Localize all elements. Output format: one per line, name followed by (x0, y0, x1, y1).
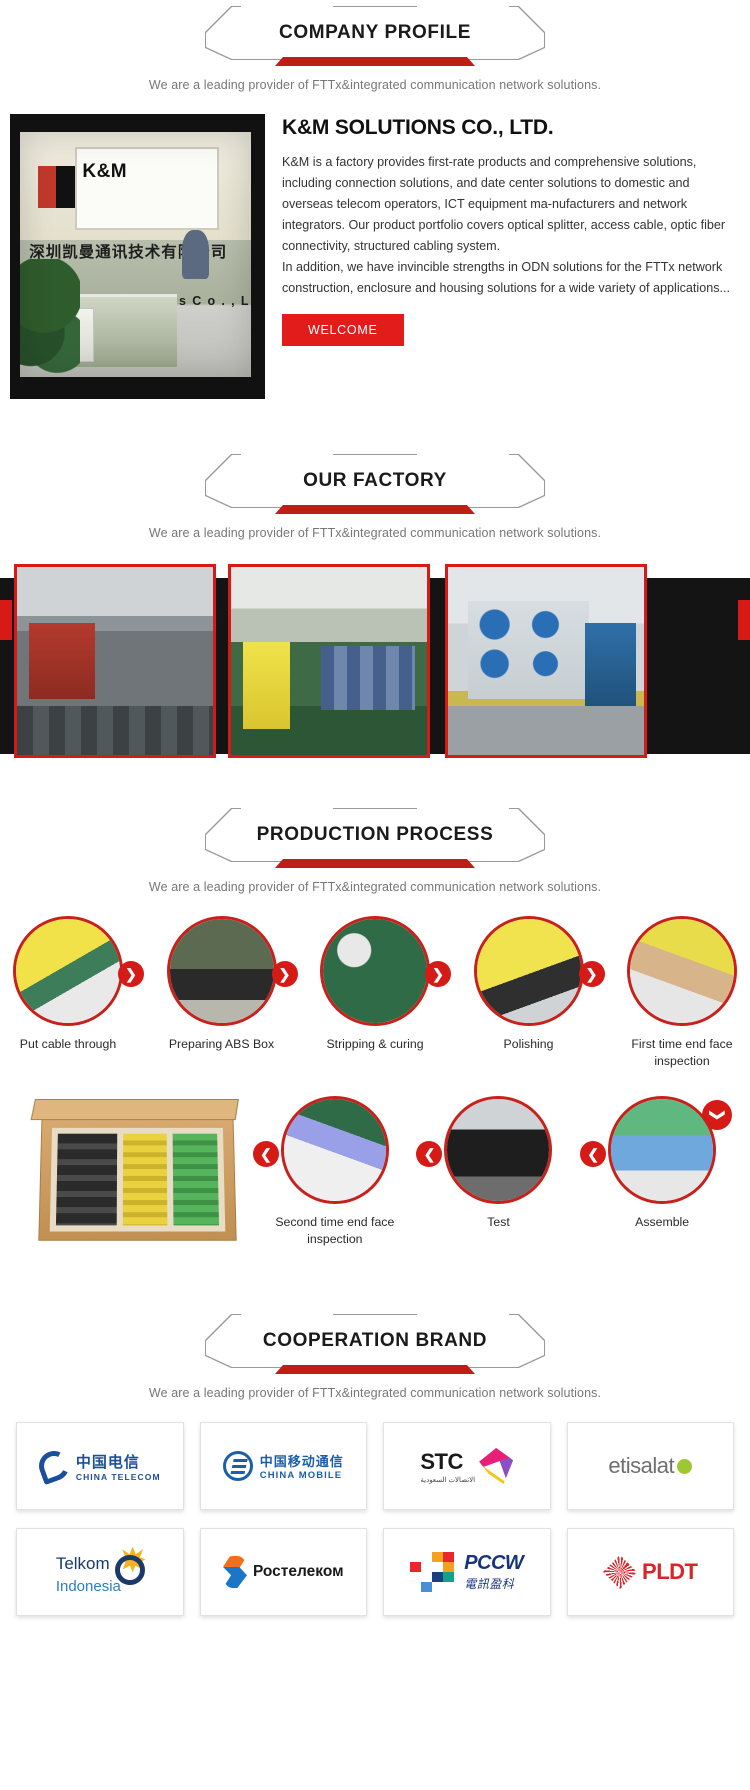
section-header-our-factory: OUR FACTORY (0, 448, 750, 514)
brand-telkom-indonesia[interactable]: Telkom Indonesia (16, 1528, 184, 1616)
company-profile-block: K&M 深圳凯曼通讯技术有限公司 K & M S o l u t i o n s… (0, 114, 750, 404)
brand-china-mobile[interactable]: 中国移动通信 CHINA MOBILE (200, 1422, 368, 1510)
banner-red-bar (275, 57, 475, 66)
pccw-cn: 電訊盈科 (464, 1575, 523, 1592)
process-label-7: Test (430, 1214, 566, 1231)
banner-gap-left (241, 452, 333, 457)
rostelecom-logo-icon (223, 1556, 247, 1588)
chevron-right-icon: ❯ (579, 961, 605, 987)
brand-pldt[interactable]: PLDT (567, 1528, 735, 1616)
company-profile-page: COMPANY PROFILE We are a leading provide… (0, 0, 750, 1642)
company-paragraph-1: K&M is a factory provides first-rate pro… (282, 152, 740, 257)
section-subtitle-company-profile: We are a leading provider of FTTx&integr… (0, 66, 750, 96)
banner-cooperation-brand: COOPERATION BRAND (205, 1314, 545, 1368)
banner-production-process: PRODUCTION PROCESS (205, 808, 545, 862)
factory-tab-right (738, 600, 750, 640)
chevron-left-icon: ❮ (416, 1141, 442, 1167)
banner-gap-left (241, 4, 333, 9)
stc-arabic: الاتصالات السعودية (420, 1476, 475, 1484)
telkom-indonesia-word: Indonesia (56, 1578, 121, 1595)
banner-red-bar (275, 859, 475, 868)
pldt-diamond-icon (603, 1555, 637, 1589)
company-paragraph-2: In addition, we have invincible strength… (282, 257, 740, 299)
section-header-company-profile: COMPANY PROFILE (0, 0, 750, 66)
process-image-4 (474, 916, 584, 1026)
office-vignette (20, 132, 251, 377)
brand-china-telecom[interactable]: 中国电信 CHINA TELECOM (16, 1422, 184, 1510)
chevron-right-icon: ❯ (272, 961, 298, 987)
company-text-column: K&M SOLUTIONS CO., LTD. K&M is a factory… (282, 116, 740, 346)
china-mobile-logo-icon (223, 1451, 253, 1481)
factory-photo-3[interactable] (445, 564, 647, 758)
banner-gap-right (417, 4, 509, 9)
packing-carton-photo[interactable] (38, 1111, 236, 1240)
section-header-cooperation-brand: COOPERATION BRAND (0, 1308, 750, 1374)
chevron-left-icon: ❮ (580, 1141, 606, 1167)
factory-photo-2[interactable] (228, 564, 430, 758)
banner-gap-right (417, 806, 509, 811)
brand-stc[interactable]: STC الاتصالات السعودية (383, 1422, 551, 1510)
welcome-button[interactable]: WELCOME (282, 314, 404, 346)
process-row-1: Put cable through ❯ Preparing ABS Box ❯ … (0, 916, 750, 1070)
process-label-5: First time end face inspection (620, 1036, 744, 1070)
chevron-left-icon: ❮ (253, 1141, 279, 1167)
process-image-5 (627, 916, 737, 1026)
china-mobile-en: CHINA MOBILE (260, 1470, 344, 1481)
brand-etisalat[interactable]: etisalat (567, 1422, 735, 1510)
process-row-2: ❯ ❮ Second time end face inspection ❮ Te… (0, 1096, 750, 1286)
process-image-1 (13, 916, 123, 1026)
process-step-6[interactable]: ❮ Second time end face inspection (267, 1096, 403, 1248)
process-label-1: Put cable through (6, 1036, 130, 1053)
process-step-8[interactable]: ❮ Assemble (594, 1096, 730, 1248)
process-label-8: Assemble (594, 1214, 730, 1231)
process-label-2: Preparing ABS Box (160, 1036, 284, 1053)
china-telecom-logo-icon (39, 1451, 69, 1481)
process-step-7[interactable]: ❮ Test (430, 1096, 566, 1248)
stc-en: STC (420, 1449, 475, 1475)
telkom-word: Telkom (56, 1554, 110, 1574)
process-image-2 (167, 916, 277, 1026)
process-step-3[interactable]: Stripping & curing ❯ (313, 916, 437, 1070)
china-telecom-cn: 中国电信 (76, 1451, 161, 1472)
process-step-4[interactable]: Polishing ❯ (467, 916, 591, 1070)
carton-flap (31, 1099, 240, 1120)
banner-red-bar (275, 505, 475, 514)
process-label-6: Second time end face inspection (267, 1214, 403, 1248)
company-name-heading: K&M SOLUTIONS CO., LTD. (282, 116, 740, 140)
brand-pccw[interactable]: PCCW 電訊盈科 (383, 1528, 551, 1616)
banner-our-factory: OUR FACTORY (205, 454, 545, 508)
banner-gap-left (241, 806, 333, 811)
section-title-our-factory: OUR FACTORY (303, 470, 447, 492)
pccw-squares-icon (410, 1552, 456, 1592)
office-photo-frame: K&M 深圳凯曼通讯技术有限公司 K & M S o l u t i o n s… (10, 114, 265, 399)
carton-pack-yellow (122, 1134, 167, 1226)
china-telecom-en: CHINA TELECOM (76, 1472, 161, 1482)
rostelecom-en: Ростелеком (253, 1563, 344, 1581)
process-image-6 (281, 1096, 389, 1204)
process-image-7 (444, 1096, 552, 1204)
process-step-5[interactable]: First time end face inspection (620, 916, 744, 1070)
telkom-sun-icon (114, 1550, 144, 1578)
office-photo: K&M 深圳凯曼通讯技术有限公司 K & M S o l u t i o n s… (20, 132, 251, 377)
china-mobile-cn: 中国移动通信 (260, 1451, 344, 1470)
banner-company-profile: COMPANY PROFILE (205, 6, 545, 60)
process-label-3: Stripping & curing (313, 1036, 437, 1053)
section-title-cooperation-brand: COOPERATION BRAND (263, 1330, 487, 1352)
chevron-right-icon: ❯ (118, 961, 144, 987)
carton-pack-green (173, 1134, 219, 1226)
section-header-production-process: PRODUCTION PROCESS (0, 802, 750, 868)
factory-tab-left (0, 600, 12, 640)
process-image-8 (608, 1096, 716, 1204)
process-image-3 (320, 916, 430, 1026)
banner-gap-left (241, 1312, 333, 1317)
process-step-1[interactable]: Put cable through ❯ (6, 916, 130, 1070)
process-label-4: Polishing (467, 1036, 591, 1053)
brand-rostelecom[interactable]: Ростелеком (200, 1528, 368, 1616)
stc-swoosh-icon (479, 1448, 513, 1484)
etisalat-dot-icon (677, 1459, 692, 1474)
section-subtitle-our-factory: We are a leading provider of FTTx&integr… (0, 514, 750, 544)
etisalat-en: etisalat (608, 1453, 674, 1479)
factory-photo-1[interactable] (14, 564, 216, 758)
brand-grid: 中国电信 CHINA TELECOM 中国移动通信 CHINA MOBILE S… (0, 1404, 750, 1642)
banner-gap-right (417, 1312, 509, 1317)
page-title: COMPANY PROFILE (279, 22, 471, 44)
factory-photo-strip (0, 564, 750, 774)
pccw-en: PCCW (464, 1552, 523, 1575)
section-subtitle-production-process: We are a leading provider of FTTx&integr… (0, 868, 750, 898)
section-title-production-process: PRODUCTION PROCESS (257, 824, 494, 846)
chevron-right-icon: ❯ (425, 961, 451, 987)
carton-pack-black (56, 1134, 117, 1226)
carton-contents (50, 1128, 226, 1232)
process-row-2-items: ❮ Second time end face inspection ❮ Test… (253, 1096, 744, 1248)
pldt-en: PLDT (642, 1559, 697, 1585)
banner-red-bar (275, 1365, 475, 1374)
section-subtitle-cooperation-brand: We are a leading provider of FTTx&integr… (0, 1374, 750, 1404)
process-step-2[interactable]: Preparing ABS Box ❯ (160, 916, 284, 1070)
banner-gap-right (417, 452, 509, 457)
